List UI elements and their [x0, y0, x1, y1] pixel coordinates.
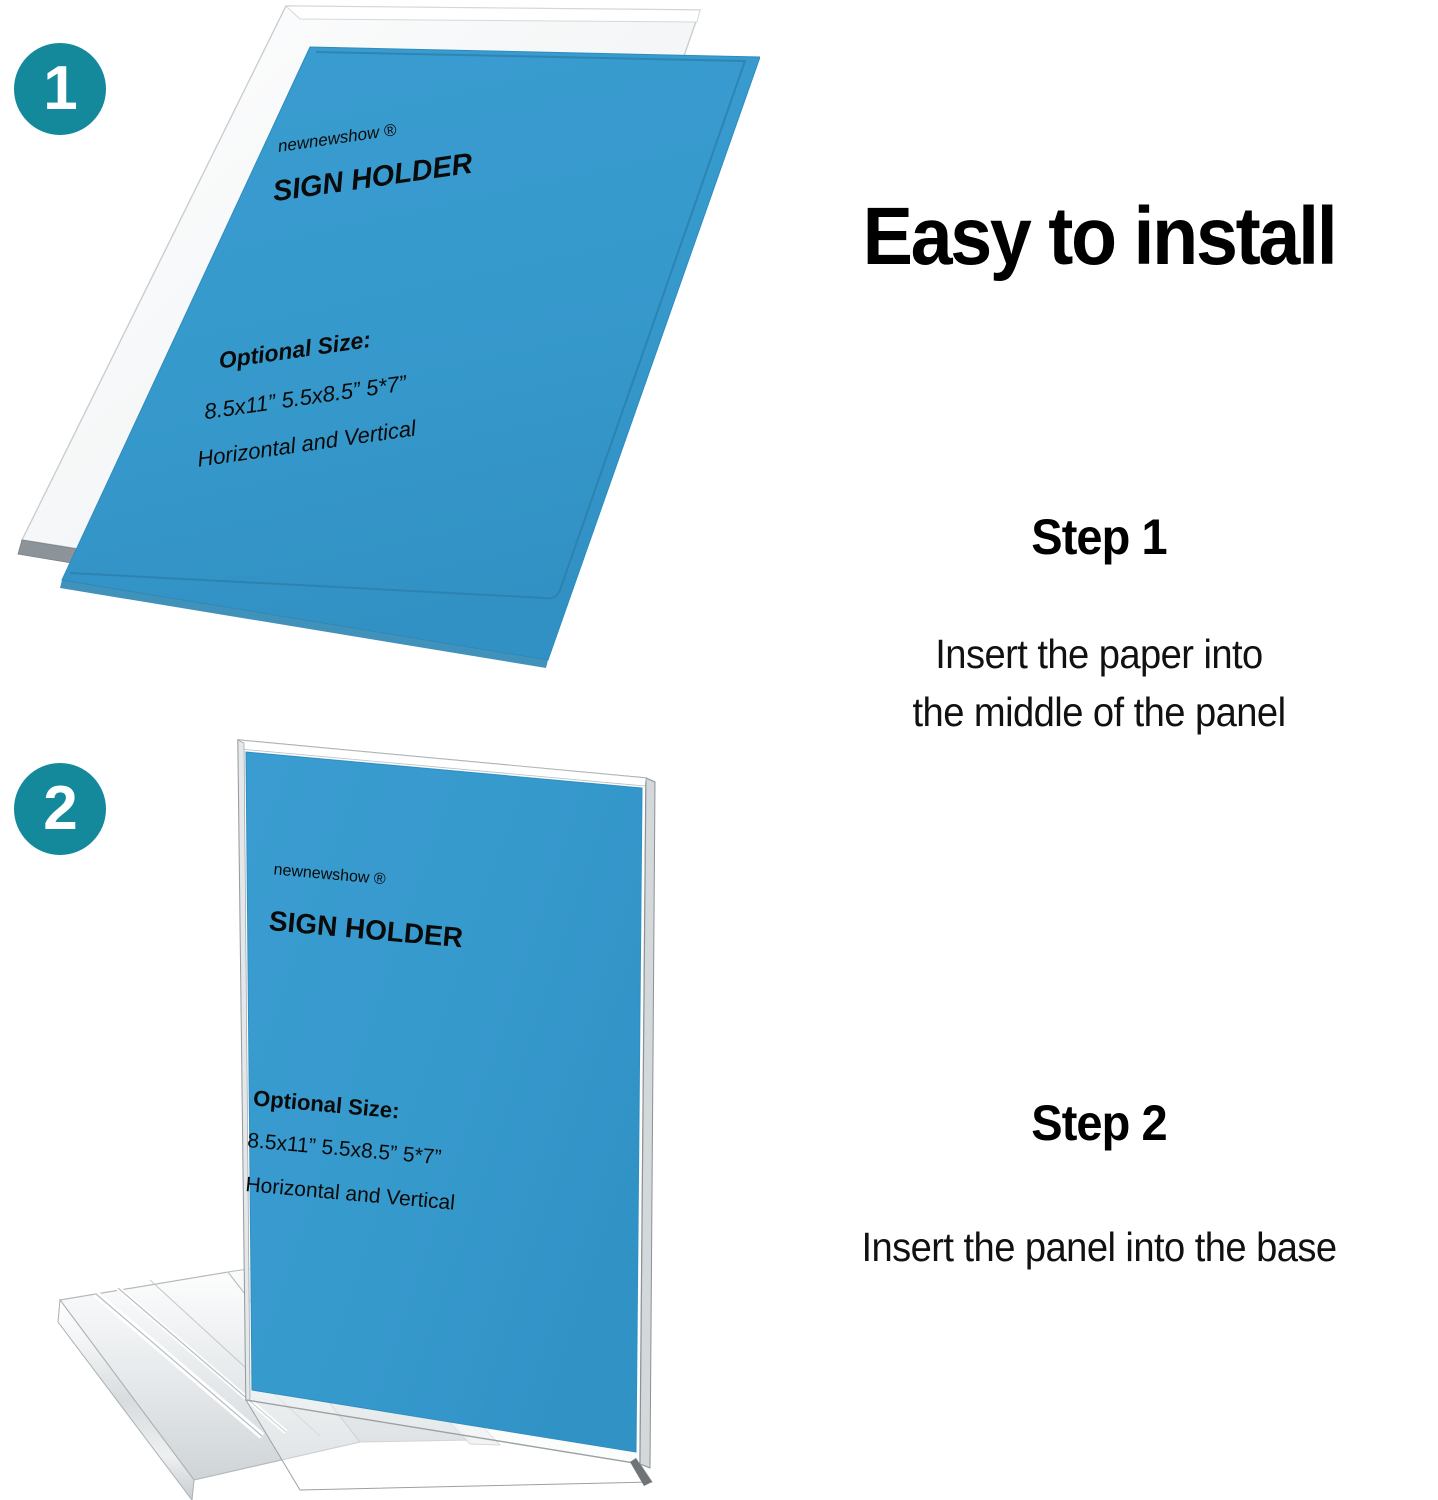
step-2-title: Step 2 — [780, 1098, 1417, 1148]
step-1-description-line-2: the middle of the panel — [784, 683, 1415, 741]
step-2-description: Insert the panel into the base — [784, 1218, 1415, 1276]
instruction-text-column: Easy to install Step 1 Insert the paper … — [760, 0, 1438, 1500]
illustration-step-2: newnewshow ® SIGN HOLDER Optional Size: … — [0, 700, 760, 1500]
step-badge-2-number: 2 — [43, 778, 76, 840]
step-2-description-line-1: Insert the panel into the base — [784, 1218, 1415, 1276]
step-badge-1-number: 1 — [43, 58, 76, 120]
step-1-description: Insert the paper into the middle of the … — [784, 625, 1415, 741]
blue-paper-insert — [60, 47, 760, 668]
step-1-title: Step 1 — [780, 512, 1417, 562]
step-badge-1: 1 — [14, 43, 106, 135]
page-headline: Easy to install — [787, 196, 1411, 278]
step-badge-2: 2 — [14, 763, 106, 855]
step-1-description-line-1: Insert the paper into — [784, 625, 1415, 683]
product-instruction-page: newnewshow ® SIGN HOLDER Optional Size: … — [0, 0, 1438, 1500]
illustration-step-1: newnewshow ® SIGN HOLDER Optional Size: … — [0, 0, 760, 700]
